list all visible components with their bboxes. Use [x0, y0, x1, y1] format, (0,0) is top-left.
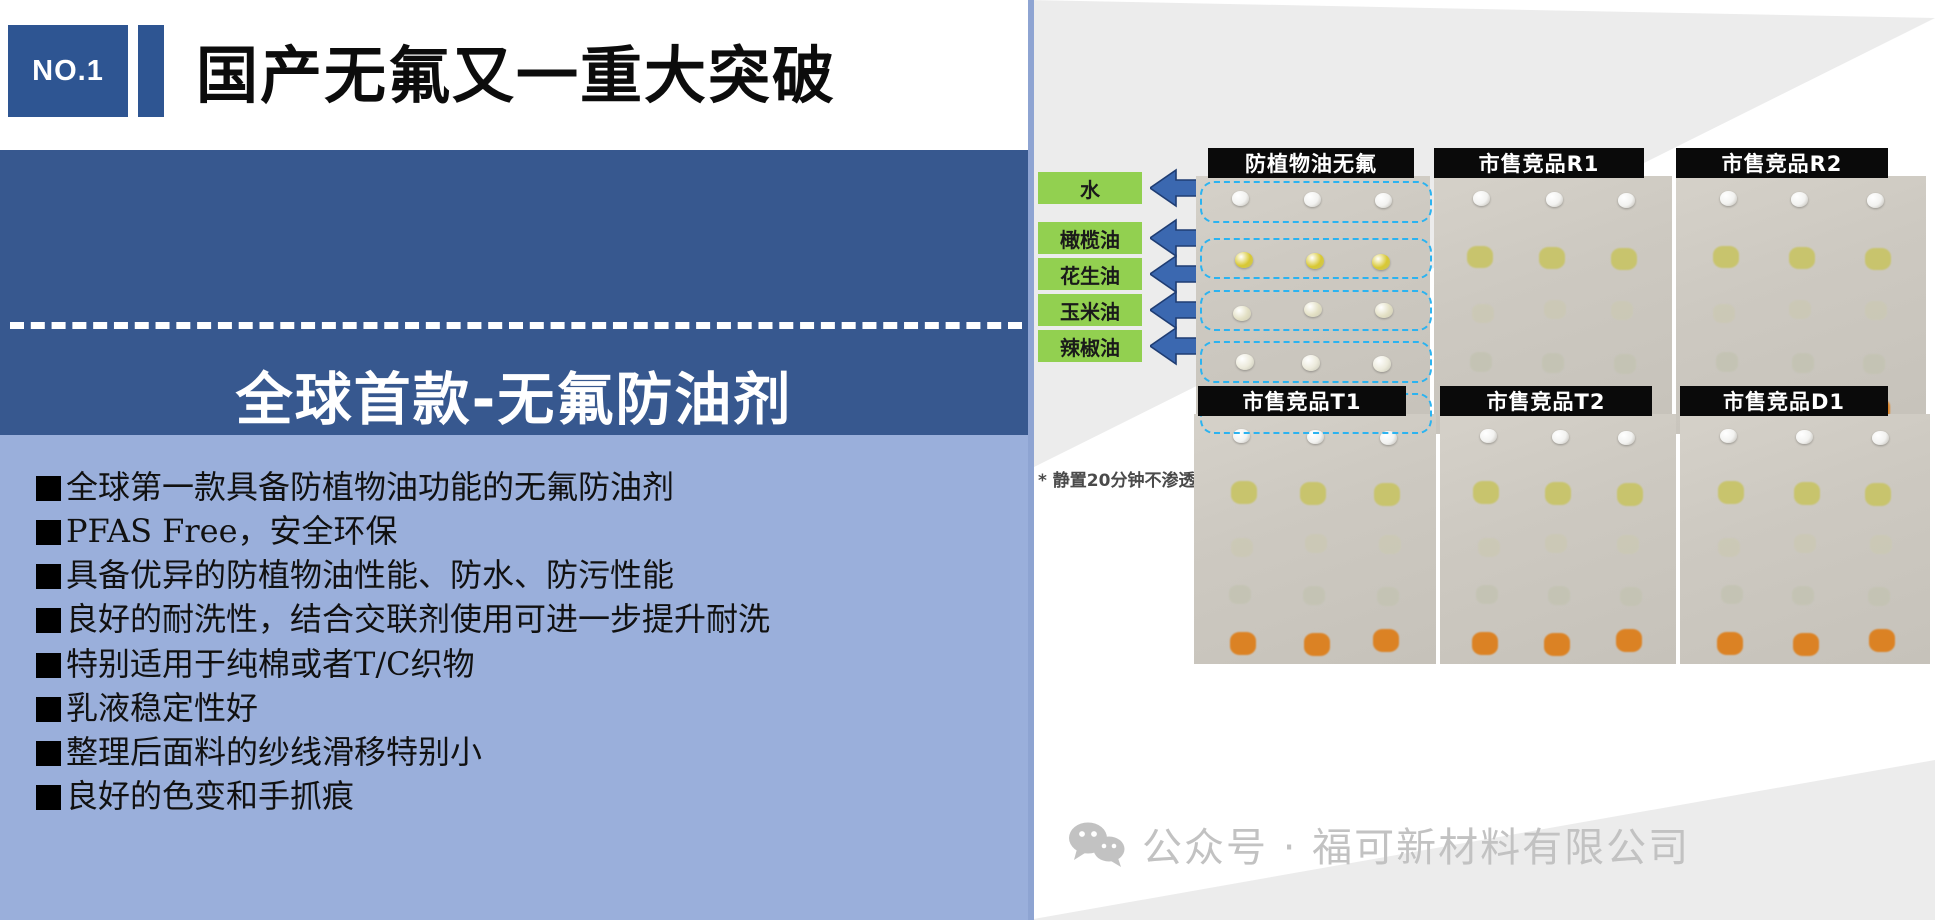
- droplet-olive: [1789, 247, 1815, 270]
- droplet-chili: [1793, 633, 1819, 656]
- droplet-corn: [1470, 352, 1492, 371]
- banner-title-cn: 全球首款-无氟防油剂: [0, 372, 1028, 429]
- droplet-peanut: [1305, 534, 1327, 553]
- wechat-icon: [1068, 821, 1128, 867]
- droplet-water: [1618, 193, 1635, 208]
- slide-header: NO.1 国产无氟又一重大突破: [0, 0, 1028, 150]
- droplet-olive: [1231, 481, 1257, 504]
- droplet-olive: [1865, 483, 1891, 506]
- droplet-olive: [1865, 248, 1891, 271]
- droplet-corn: [1614, 354, 1636, 373]
- droplet-corn: [1792, 353, 1814, 372]
- test-footnote: * 静置20分钟不渗透: [1038, 466, 1195, 491]
- sample-caption-6: 市售竞品D1: [1680, 386, 1888, 416]
- feature-list-panel: 全球第一款具备防植物油功能的无氟防油剂 PFAS Free，安全环保具备优异的防…: [0, 435, 1028, 920]
- page-title: 国产无氟又一重大突破: [196, 20, 836, 120]
- droplet-peanut: [1718, 538, 1740, 557]
- highlight-box-4: [1200, 341, 1432, 382]
- droplet-water: [1480, 429, 1497, 444]
- liquid-label-2: 橄榄油: [1038, 222, 1142, 254]
- droplet-peanut: [1617, 535, 1639, 554]
- no1-badge: NO.1: [8, 25, 128, 117]
- sample-caption-text: 市售竞品R1: [1479, 148, 1600, 178]
- droplet-peanut: [1545, 534, 1567, 553]
- bullet-square-icon: [36, 697, 61, 722]
- feature-list-item-label: 全球第一款具备防植物油功能的无氟防油剂: [66, 465, 674, 509]
- feature-list-item: PFAS Free，安全环保: [36, 509, 1016, 553]
- liquid-label-5: 辣椒油: [1038, 330, 1142, 362]
- droplet-water: [1473, 191, 1490, 206]
- droplet-chili: [1869, 629, 1895, 652]
- droplet-corn: [1377, 587, 1399, 606]
- droplet-olive: [1617, 483, 1643, 506]
- droplet-corn: [1716, 352, 1738, 371]
- droplet-olive: [1539, 247, 1565, 270]
- droplet-corn: [1792, 586, 1814, 605]
- sample-caption-text: 市售竞品T1: [1243, 386, 1362, 416]
- droplet-water: [1720, 191, 1737, 206]
- sample-photo-4: [1194, 414, 1436, 664]
- droplet-corn: [1868, 587, 1890, 606]
- feature-list-item-label: 良好的耐洗性，结合交联剂使用可进一步提升耐洗: [66, 597, 770, 641]
- bullet-square-icon: [36, 564, 61, 589]
- sample-caption-text: 市售竞品T2: [1487, 386, 1606, 416]
- droplet-peanut: [1789, 300, 1811, 319]
- no1-badge-label: NO.1: [32, 55, 104, 88]
- feature-list: 全球第一款具备防植物油功能的无氟防油剂 PFAS Free，安全环保具备优异的防…: [36, 465, 1016, 818]
- feature-list-item: 良好的耐洗性，结合交联剂使用可进一步提升耐洗: [36, 597, 1016, 641]
- sample-caption-4: 市售竞品T1: [1198, 386, 1406, 416]
- droplet-chili: [1304, 633, 1330, 656]
- droplet-corn: [1476, 585, 1498, 604]
- feature-list-item-label: 具备优异的防植物油性能、防水、防污性能: [66, 553, 674, 597]
- droplet-chili: [1472, 632, 1498, 655]
- feature-list-item: 全球第一款具备防植物油功能的无氟防油剂: [36, 465, 1016, 509]
- bullet-square-icon: [36, 653, 61, 678]
- feature-list-item: 特别适用于纯棉或者T/C织物: [36, 642, 1016, 686]
- droplet-corn: [1620, 587, 1642, 606]
- droplet-olive: [1718, 481, 1744, 504]
- feature-list-item: 具备优异的防植物油性能、防水、防污性能: [36, 553, 1016, 597]
- droplet-olive: [1713, 246, 1739, 269]
- feature-list-item-label: 乳液稳定性好: [66, 686, 258, 730]
- droplet-water: [1872, 431, 1889, 446]
- droplet-corn: [1863, 354, 1885, 373]
- droplet-corn: [1229, 585, 1251, 604]
- sample-photo-6: [1680, 414, 1930, 664]
- droplet-olive: [1611, 248, 1637, 271]
- droplet-water: [1720, 429, 1737, 444]
- droplet-chili: [1544, 633, 1570, 656]
- droplet-peanut: [1231, 538, 1253, 557]
- watermark-text: 公众号 · 福可新材料有限公司: [1142, 815, 1690, 873]
- feature-list-item-label: 整理后面料的纱线滑移特别小: [66, 730, 482, 774]
- watermark: 公众号 · 福可新材料有限公司: [1068, 815, 1690, 873]
- droplet-olive: [1473, 481, 1499, 504]
- droplet-olive: [1794, 482, 1820, 505]
- droplet-water: [1546, 192, 1563, 207]
- droplet-peanut: [1865, 301, 1887, 320]
- droplet-chili: [1616, 629, 1642, 652]
- droplet-water: [1867, 193, 1884, 208]
- droplet-peanut: [1713, 304, 1735, 323]
- sample-caption-text: 市售竞品D1: [1723, 386, 1845, 416]
- feature-list-item-label: 良好的色变和手抓痕: [66, 774, 354, 818]
- feature-list-item-label: 特别适用于纯棉或者T/C织物: [66, 642, 475, 686]
- droplet-chili: [1717, 632, 1743, 655]
- droplet-water: [1791, 192, 1808, 207]
- sample-caption-text: 市售竞品R2: [1722, 148, 1843, 178]
- droplet-peanut: [1472, 304, 1494, 323]
- badge-accent-bar: [138, 25, 164, 117]
- liquid-label-text: 辣椒油: [1060, 332, 1120, 361]
- bullet-square-icon: [36, 520, 61, 545]
- feature-list-item: 良好的色变和手抓痕: [36, 774, 1016, 818]
- droplet-olive: [1545, 482, 1571, 505]
- droplet-corn: [1303, 586, 1325, 605]
- feature-list-item: 整理后面料的纱线滑移特别小: [36, 730, 1016, 774]
- sample-caption-2: 市售竞品R1: [1434, 148, 1644, 178]
- feature-list-item: 乳液稳定性好: [36, 686, 1016, 730]
- liquid-label-text: 水: [1080, 174, 1100, 203]
- highlight-box-2: [1200, 238, 1432, 279]
- liquid-label-1: 水: [1038, 172, 1142, 204]
- droplet-peanut: [1379, 535, 1401, 554]
- test-results-column: 水橄榄油花生油玉米油辣椒油 * 静置20分钟不渗透 防植物油无氟市售竞品R1市售…: [1028, 0, 1935, 920]
- bullet-square-icon: [36, 741, 61, 766]
- highlight-box-1: [1200, 181, 1432, 222]
- droplet-olive: [1467, 246, 1493, 269]
- droplet-water: [1796, 430, 1813, 445]
- sample-caption-text: 防植物油无氟: [1245, 148, 1377, 178]
- sample-caption-1: 防植物油无氟: [1208, 148, 1414, 178]
- liquid-label-text: 花生油: [1060, 260, 1120, 289]
- liquid-label-3: 花生油: [1038, 258, 1142, 290]
- feature-list-item-label: PFAS Free，安全环保: [66, 509, 398, 553]
- sample-caption-5: 市售竞品T2: [1440, 386, 1652, 416]
- droplet-corn: [1721, 585, 1743, 604]
- sample-photo-5: [1440, 414, 1676, 664]
- liquid-label-text: 橄榄油: [1060, 224, 1120, 253]
- droplet-olive: [1300, 482, 1326, 505]
- left-content-column: NO.1 国产无氟又一重大突破 全球首款-无氟防油剂 ECO-BARRIER X…: [0, 0, 1028, 920]
- droplet-water: [1552, 430, 1569, 445]
- droplet-peanut: [1611, 301, 1633, 320]
- droplet-peanut: [1870, 535, 1892, 554]
- column-divider: [1028, 0, 1034, 920]
- bullet-square-icon: [36, 785, 61, 810]
- droplet-olive: [1374, 483, 1400, 506]
- product-banner: 全球首款-无氟防油剂 ECO-BARRIER X-8801: [0, 150, 1028, 435]
- droplet-peanut: [1478, 538, 1500, 557]
- sample-caption-3: 市售竞品R2: [1676, 148, 1888, 178]
- droplet-corn: [1548, 586, 1570, 605]
- droplet-chili: [1373, 629, 1399, 652]
- liquid-label-text: 玉米油: [1060, 296, 1120, 325]
- bullet-square-icon: [36, 608, 61, 633]
- droplet-corn: [1542, 353, 1564, 372]
- liquid-label-4: 玉米油: [1038, 294, 1142, 326]
- highlight-box-3: [1200, 290, 1432, 331]
- droplet-peanut: [1544, 300, 1566, 319]
- bullet-square-icon: [36, 476, 61, 501]
- droplet-chili: [1230, 632, 1256, 655]
- droplet-peanut: [1794, 534, 1816, 553]
- banner-dashed-divider-top: [10, 322, 1022, 329]
- slide-canvas: NO.1 国产无氟又一重大突破 全球首款-无氟防油剂 ECO-BARRIER X…: [0, 0, 1935, 920]
